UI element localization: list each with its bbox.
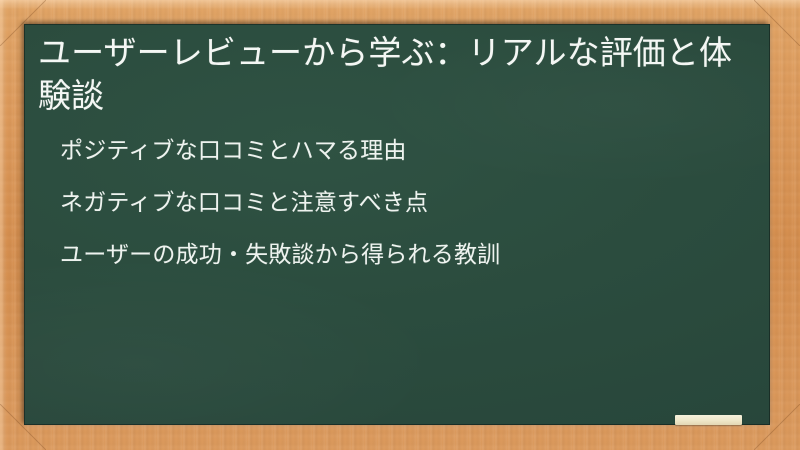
- chalkboard-slide: ユーザーレビューから学ぶ：リアルな評価と体験談 ポジティブな口コミとハマる理由 …: [0, 0, 800, 450]
- slide-title: ユーザーレビューから学ぶ：リアルな評価と体験談: [38, 32, 748, 118]
- board-content: ユーザーレビューから学ぶ：リアルな評価と体験談 ポジティブな口コミとハマる理由 …: [24, 24, 770, 425]
- chalk-icon: [675, 415, 742, 425]
- frame-left-highlight: [0, 0, 7, 450]
- list-item: ポジティブな口コミとハマる理由: [60, 140, 748, 163]
- list-item: ネガティブな口コミと注意すべき点: [60, 192, 748, 215]
- frame-top-highlight: [0, 0, 800, 9]
- topic-list: ポジティブな口コミとハマる理由 ネガティブな口コミと注意すべき点 ユーザーの成功…: [38, 140, 748, 267]
- chalkboard-surface: ユーザーレビューから学ぶ：リアルな評価と体験談 ポジティブな口コミとハマる理由 …: [24, 24, 770, 425]
- list-item: ユーザーの成功・失敗談から得られる教訓: [60, 244, 748, 267]
